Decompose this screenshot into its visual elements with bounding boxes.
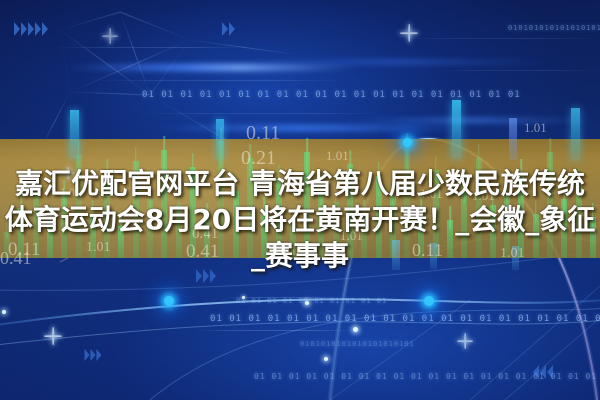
glow-node-icon <box>164 296 174 306</box>
glow-node-icon <box>324 357 328 361</box>
glow-node-icon <box>2 310 6 314</box>
banner-image: 0.110.211.011.011.011.010.411.010.111.01… <box>0 0 600 400</box>
glow-node-icon <box>353 327 358 332</box>
glow-node-icon <box>403 138 412 147</box>
glow-node-icon <box>242 296 245 299</box>
glow-node-icon <box>424 296 434 306</box>
page-title: 嘉汇优配官网平台 青海省第八届少数民族传统体育运动会8月20日将在黄南开赛！_会… <box>0 166 600 274</box>
glow-node-icon <box>305 301 309 305</box>
